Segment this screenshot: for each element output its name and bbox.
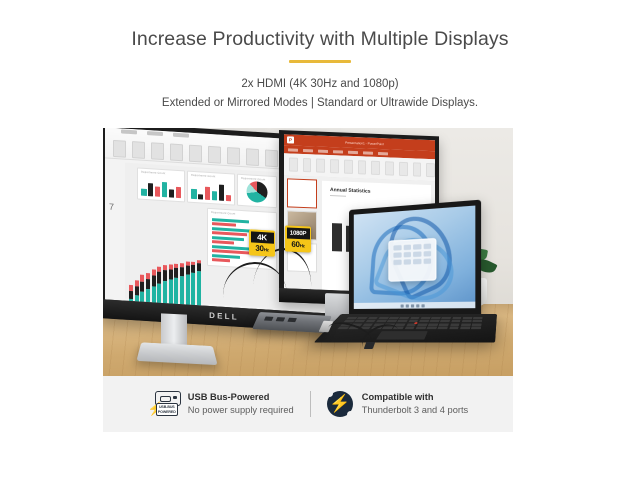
menu-item (348, 150, 358, 153)
accent-divider (289, 60, 351, 63)
taskbar-icon (405, 304, 408, 307)
badge-refresh: 60Hz (287, 238, 310, 251)
ribbon-button (170, 143, 183, 161)
ribbon-button (330, 159, 339, 173)
ribbon-button (265, 149, 278, 167)
menu-item (363, 151, 373, 154)
ribbon-button (189, 145, 202, 163)
ribbon-button (132, 141, 145, 159)
feature-subtitle: No power supply required (188, 404, 294, 417)
laptop-lid (349, 200, 481, 318)
menu-item (378, 151, 388, 154)
hub-ports (264, 316, 297, 321)
ribbon-button (371, 161, 380, 175)
tile-bar-chart (191, 181, 231, 202)
slide-thumbnail (287, 178, 317, 208)
ribbon-tab (173, 133, 189, 138)
tile-pie-chart (247, 180, 268, 202)
tile-title: Department Count (138, 168, 184, 176)
taskbar-icon (416, 304, 419, 307)
thunderbolt-icon: ⚡ (327, 391, 353, 417)
ribbon-button (385, 161, 394, 175)
menu-item (318, 149, 328, 152)
hub-port (276, 317, 285, 321)
product-photo: 7 Department Count (103, 128, 513, 376)
feature-title: Compatible with (362, 391, 468, 404)
taskbar-icon (410, 304, 413, 307)
taskbar-icon (421, 304, 424, 307)
feature-subtitle: Thunderbolt 3 and 4 ports (362, 404, 468, 417)
feature-usb-bus-powered: ⚡ USB-BUS POWERED USB Bus-Powered No pow… (132, 391, 310, 417)
feature-text: Compatible with Thunderbolt 3 and 4 port… (362, 391, 468, 416)
ribbon-button (413, 162, 422, 176)
dashboard-tile: Department Count (187, 171, 235, 206)
badge-resolution: 1080P (287, 227, 310, 239)
ribbon-tab (121, 129, 137, 134)
usb-bus-powered-icon: ⚡ USB-BUS POWERED (148, 391, 179, 417)
4k-30hz-badge: 4K 30Hz (249, 229, 275, 257)
ribbon-button (399, 162, 408, 176)
header: Increase Productivity with Multiple Disp… (0, 0, 640, 112)
dashboard-tile: Department Count (137, 167, 185, 202)
hub-port (264, 316, 273, 320)
menu-item (333, 150, 343, 153)
subheading: 2x HDMI (4K 30Hz and 1080p) Extended or … (0, 75, 640, 112)
ribbon-button (289, 157, 298, 171)
tile-bar-chart (141, 178, 181, 199)
dashboard-tile: Department Count (237, 174, 277, 209)
subheading-line-1: 2x HDMI (4K 30Hz and 1080p) (0, 75, 640, 94)
feature-thunderbolt: ⚡ Compatible with Thunderbolt 3 and 4 po… (311, 391, 484, 417)
ribbon-tab (147, 131, 163, 136)
1080p-60hz-badge: 1080P 60Hz (285, 225, 311, 252)
badge-refresh: 30Hz (251, 242, 274, 255)
ribbon-button (113, 140, 126, 158)
ribbon-button (303, 158, 312, 172)
start-menu-app-grid (393, 244, 431, 266)
ribbon-button (358, 160, 367, 174)
ribbon-button (344, 160, 353, 174)
menu-item (303, 148, 313, 151)
page-title: Increase Productivity with Multiple Disp… (0, 28, 640, 51)
feature-title: USB Bus-Powered (188, 391, 294, 404)
subheading-line-2: Extended or Mirrored Modes | Standard or… (0, 94, 640, 113)
start-menu (388, 238, 436, 282)
feature-bar: ⚡ USB-BUS POWERED USB Bus-Powered No pow… (103, 376, 513, 432)
ribbon-button (151, 142, 164, 160)
slide-title-rule (330, 195, 346, 197)
hub-port (288, 318, 297, 322)
ribbon-button (227, 147, 240, 165)
windows-taskbar (354, 302, 476, 309)
feature-text: USB Bus-Powered No power supply required (188, 391, 294, 416)
tile-title: Department Count (188, 172, 234, 180)
dashboard-page-number: 7 (109, 202, 114, 212)
ribbon-button (208, 146, 221, 164)
ribbon-button (426, 163, 435, 177)
laptop-screen (354, 206, 476, 309)
ribbon-button (246, 148, 259, 166)
powerpoint-logo-icon: P (287, 136, 294, 143)
taskbar-icon (400, 304, 403, 307)
ribbon-button (316, 159, 325, 173)
menu-item (288, 148, 298, 151)
usb-tag-line-2: POWERED (157, 410, 177, 415)
